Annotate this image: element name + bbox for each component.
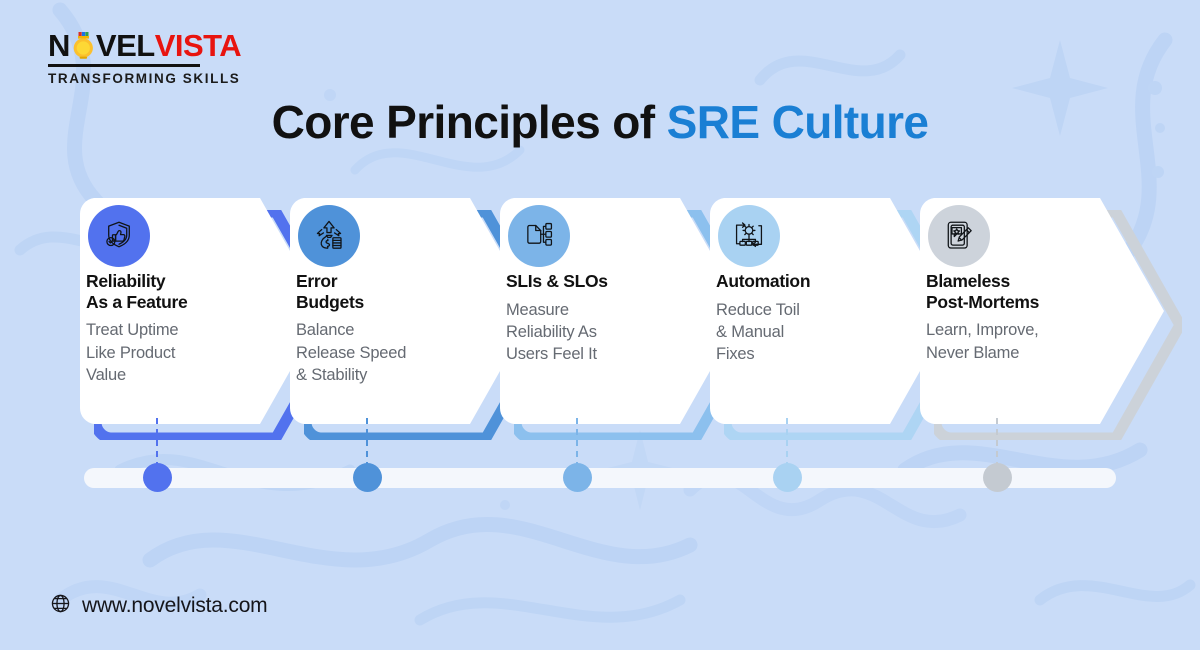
timeline-dot-3[interactable] bbox=[563, 463, 592, 492]
money-bag-arrows-icon bbox=[311, 218, 347, 254]
timeline-dot-4[interactable] bbox=[773, 463, 802, 492]
document-nodes-icon bbox=[521, 218, 557, 254]
infographic-canvas: N VEL VISTA TRANSFORMING SKILLS Core Pri… bbox=[0, 0, 1200, 650]
timeline-connector-1 bbox=[156, 418, 158, 464]
principles-row: Reliability As a Feature Treat Uptime Li… bbox=[0, 196, 1200, 426]
card-description: Learn, Improve, Never Blame bbox=[926, 319, 1078, 364]
card-description: Measure Reliability As Users Feel It bbox=[506, 299, 658, 366]
card-text: Reliability As a Feature Treat Uptime Li… bbox=[78, 271, 238, 386]
card-description: Reduce Toil & Manual Fixes bbox=[716, 299, 868, 366]
card-description: Treat Uptime Like Product Value bbox=[86, 319, 238, 386]
card-text: Automation Reduce Toil & Manual Fixes bbox=[708, 271, 868, 365]
card-icon-badge bbox=[508, 205, 570, 267]
page-title-plain: Core Principles of bbox=[272, 96, 655, 148]
logo-letter-n: N bbox=[48, 30, 70, 61]
card-title: Blameless Post-Mortems bbox=[926, 271, 1078, 312]
card-text: SLIs & SLOs Measure Reliability As Users… bbox=[498, 271, 658, 365]
timeline-connector-5 bbox=[996, 418, 998, 464]
card-icon-badge bbox=[928, 205, 990, 267]
globe-icon bbox=[50, 593, 71, 619]
card-icon-badge bbox=[88, 205, 150, 267]
shield-thumbs-up-icon bbox=[101, 218, 137, 254]
timeline-dot-2[interactable] bbox=[353, 463, 382, 492]
lightbulb-icon bbox=[70, 31, 96, 61]
footer: www.novelvista.com bbox=[50, 593, 267, 619]
card-icon-badge bbox=[298, 205, 360, 267]
review-pen-icon bbox=[941, 218, 977, 254]
logo-wordmark: N VEL VISTA bbox=[48, 30, 278, 61]
page-title-highlight: SRE Culture bbox=[667, 96, 929, 148]
principle-card-blameless-post-mortems[interactable]: Blameless Post-Mortems Learn, Improve, N… bbox=[918, 196, 1166, 426]
timeline-connector-3 bbox=[576, 418, 578, 464]
card-text: Error Budgets Balance Release Speed & St… bbox=[288, 271, 448, 386]
gear-workflow-icon bbox=[731, 218, 767, 254]
card-icon-badge bbox=[718, 205, 780, 267]
timeline-dot-1[interactable] bbox=[143, 463, 172, 492]
card-title: Automation bbox=[716, 271, 868, 292]
timeline-track bbox=[84, 468, 1116, 488]
brand-tagline: TRANSFORMING SKILLS bbox=[48, 71, 278, 86]
brand-logo: N VEL VISTA TRANSFORMING SKILLS bbox=[48, 30, 278, 86]
logo-letters-vel: VEL bbox=[96, 30, 155, 61]
timeline-connector-4 bbox=[786, 418, 788, 464]
timeline-dot-5[interactable] bbox=[983, 463, 1012, 492]
card-text: Blameless Post-Mortems Learn, Improve, N… bbox=[918, 271, 1078, 364]
logo-letters-vista: VISTA bbox=[155, 30, 242, 61]
card-title: SLIs & SLOs bbox=[506, 271, 658, 292]
timeline-connector-2 bbox=[366, 418, 368, 464]
card-title: Error Budgets bbox=[296, 271, 448, 312]
footer-url[interactable]: www.novelvista.com bbox=[82, 594, 267, 618]
page-title: Core Principles of SRE Culture bbox=[0, 95, 1200, 149]
logo-divider bbox=[48, 64, 200, 67]
card-title: Reliability As a Feature bbox=[86, 271, 238, 312]
card-description: Balance Release Speed & Stability bbox=[296, 319, 448, 386]
